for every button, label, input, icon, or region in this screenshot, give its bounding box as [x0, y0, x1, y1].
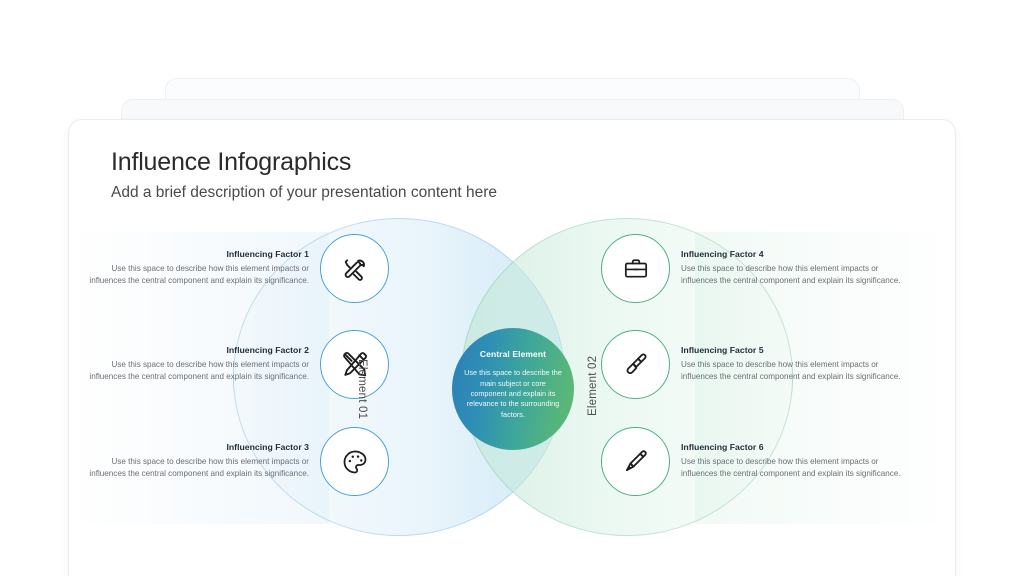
factor-item-6[interactable]: Influencing Factor 6 Use this space to d… — [601, 427, 911, 496]
factor-1-title: Influencing Factor 1 — [87, 250, 309, 260]
venn-diagram: Element 01 Element 02 Central Element Us… — [69, 218, 955, 576]
slide-header: Influence Infographics Add a brief descr… — [111, 148, 497, 202]
page-subtitle: Add a brief description of your presenta… — [111, 184, 497, 203]
central-element-title: Central Element — [463, 350, 563, 359]
factor-2-text: Influencing Factor 2 Use this space to d… — [87, 346, 309, 384]
tools-wrench-screwdriver-icon — [341, 255, 369, 283]
page-title: Influence Infographics — [111, 148, 497, 177]
factor-5-description: Use this space to describe how this elem… — [681, 359, 903, 383]
factor-6-description: Use this space to describe how this elem… — [681, 456, 903, 480]
factor-3-text: Influencing Factor 3 Use this space to d… — [87, 443, 309, 481]
factor-3-title: Influencing Factor 3 — [87, 443, 309, 453]
factor-4-text: Influencing Factor 4 Use this space to d… — [681, 250, 903, 288]
factor-2-icon-badge[interactable] — [320, 330, 389, 399]
factor-4-icon-badge[interactable] — [601, 234, 670, 303]
factor-5-icon-badge[interactable] — [601, 330, 670, 399]
central-element-description: Use this space to describe the main subj… — [463, 368, 563, 420]
factor-3-description: Use this space to describe how this elem… — [87, 456, 309, 480]
slide-card: Influence Infographics Add a brief descr… — [68, 119, 956, 576]
factor-2-title: Influencing Factor 2 — [87, 346, 309, 356]
factor-item-5[interactable]: Influencing Factor 5 Use this space to d… — [601, 330, 911, 399]
element-02-label: Element 02 — [587, 356, 599, 416]
factor-3-icon-badge[interactable] — [320, 427, 389, 496]
factor-2-description: Use this space to describe how this elem… — [87, 359, 309, 383]
briefcase-icon — [623, 256, 649, 282]
factor-item-2[interactable]: Influencing Factor 2 Use this space to d… — [79, 330, 389, 399]
palette-icon — [341, 448, 369, 476]
factor-4-description: Use this space to describe how this elem… — [681, 263, 903, 287]
factor-1-text: Influencing Factor 1 Use this space to d… — [87, 250, 309, 288]
paint-brush-icon — [622, 351, 649, 378]
factor-6-text: Influencing Factor 6 Use this space to d… — [681, 443, 903, 481]
element-01-label: Element 01 — [356, 359, 368, 419]
factor-5-text: Influencing Factor 5 Use this space to d… — [681, 346, 903, 384]
slide-canvas: Influence Infographics Add a brief descr… — [0, 0, 1024, 576]
factor-4-title: Influencing Factor 4 — [681, 250, 903, 260]
factor-item-3[interactable]: Influencing Factor 3 Use this space to d… — [79, 427, 389, 496]
central-element-circle[interactable]: Central Element Use this space to descri… — [452, 328, 574, 450]
factor-5-title: Influencing Factor 5 — [681, 346, 903, 356]
factor-6-title: Influencing Factor 6 — [681, 443, 903, 453]
factor-6-icon-badge[interactable] — [601, 427, 670, 496]
factor-1-description: Use this space to describe how this elem… — [87, 263, 309, 287]
factor-item-1[interactable]: Influencing Factor 1 Use this space to d… — [79, 234, 389, 303]
factor-1-icon-badge[interactable] — [320, 234, 389, 303]
factor-item-4[interactable]: Influencing Factor 4 Use this space to d… — [601, 234, 911, 303]
fountain-pen-icon — [622, 448, 649, 475]
